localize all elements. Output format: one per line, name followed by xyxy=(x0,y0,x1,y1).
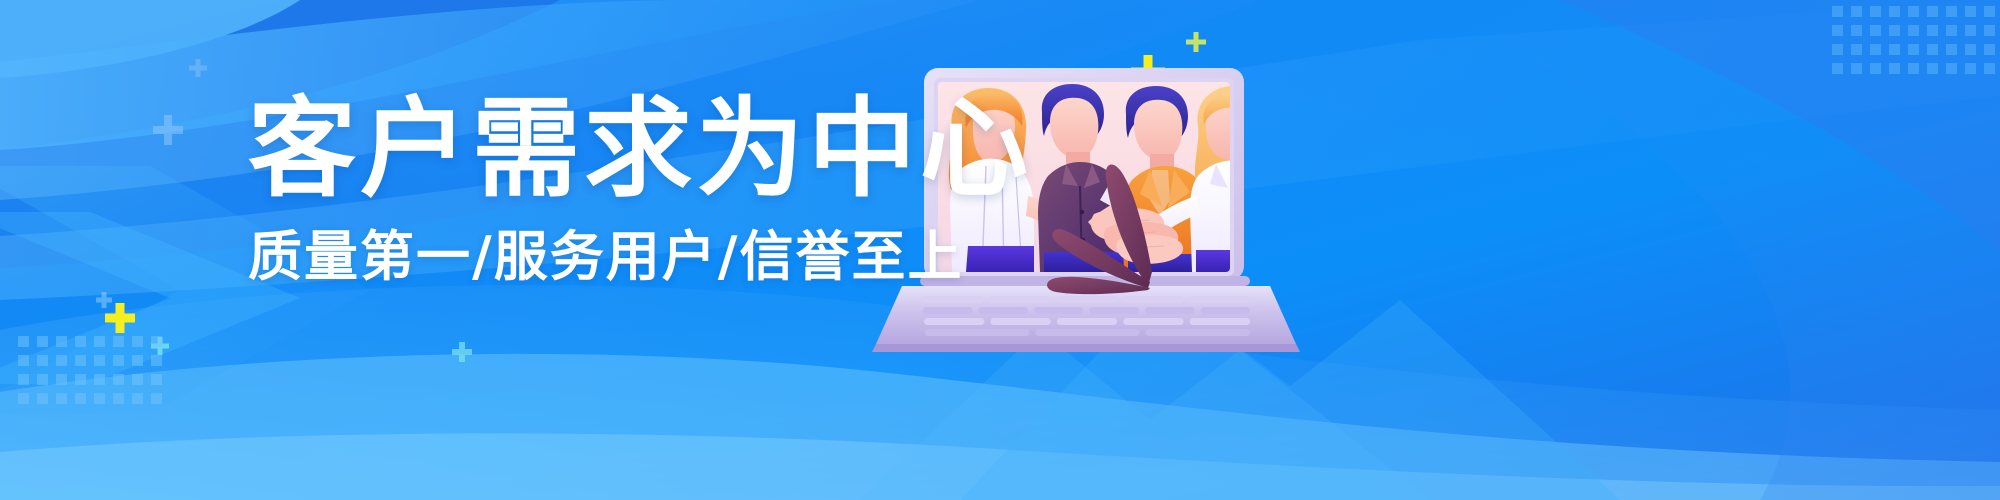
headline-block: 客户需求为中心 质量第一/服务用户/信誉至上 xyxy=(248,96,948,316)
keyboard-key xyxy=(1145,307,1195,314)
person2-button-1 xyxy=(1080,210,1084,214)
keyboard-key xyxy=(1056,296,1117,303)
keyboard-key xyxy=(989,296,1050,303)
keyboard-key xyxy=(1123,318,1183,325)
laptop-base-edge xyxy=(872,344,1300,352)
keyboard-key xyxy=(1122,296,1183,303)
keyboard-key xyxy=(1201,307,1251,314)
keyboard-key xyxy=(1146,329,1250,336)
person1-pants xyxy=(966,246,1034,272)
keyboard-key xyxy=(1189,296,1250,303)
keyboard-key xyxy=(1034,307,1084,314)
keyboard-key xyxy=(990,318,1050,325)
keyboard-key xyxy=(1190,318,1250,325)
promotional-banner: 客户需求为中心 质量第一/服务用户/信誉至上 xyxy=(0,0,2000,500)
keyboard-key xyxy=(1035,329,1139,336)
keyboard-key xyxy=(1057,318,1117,325)
keyboard-key xyxy=(1090,307,1140,314)
keyboard-key xyxy=(925,329,1029,336)
page-subtitle: 质量第一/服务用户/信誉至上 xyxy=(248,204,948,284)
page-title: 客户需求为中心 xyxy=(248,96,948,204)
keyboard-key xyxy=(924,318,984,325)
keyboard-key xyxy=(979,307,1029,314)
